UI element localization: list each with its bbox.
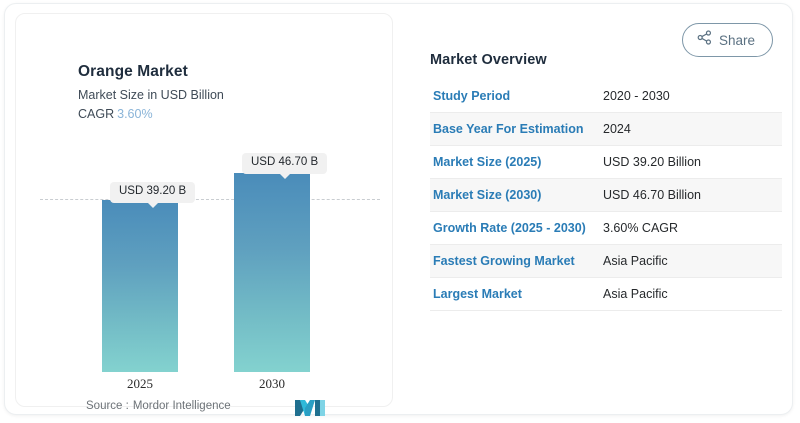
market-overview-panel: Market Overview Study Period 2020 - 2030… <box>430 52 782 311</box>
table-row: Market Size (2030) USD 46.70 Billion <box>430 179 782 212</box>
x-axis-label-2030: 2030 <box>234 376 310 392</box>
row-value: USD 39.20 Billion <box>603 146 782 179</box>
row-key: Largest Market <box>430 278 603 311</box>
row-key: Growth Rate (2025 - 2030) <box>430 212 603 245</box>
share-nodes-icon <box>697 30 712 50</box>
row-value: 2020 - 2030 <box>603 80 782 113</box>
share-button-label: Share <box>719 33 755 48</box>
chart-card: Orange Market Market Size in USD Billion… <box>15 13 393 407</box>
bar-2030[interactable] <box>234 173 310 372</box>
market-overview-table-body: Study Period 2020 - 2030 Base Year For E… <box>430 80 782 311</box>
row-key: Base Year For Estimation <box>430 113 603 146</box>
source-label: Source : <box>86 400 129 412</box>
chart-gridline <box>40 199 380 200</box>
row-value: Asia Pacific <box>603 278 782 311</box>
table-row: Base Year For Estimation 2024 <box>430 113 782 146</box>
row-value: 3.60% CAGR <box>603 212 782 245</box>
bar-chart-plot-area: USD 39.20 B USD 46.70 B 2025 2030 <box>16 14 394 408</box>
table-row: Fastest Growing Market Asia Pacific <box>430 245 782 278</box>
row-key: Study Period <box>430 80 603 113</box>
table-row: Market Size (2025) USD 39.20 Billion <box>430 146 782 179</box>
x-axis-label-2025: 2025 <box>102 376 178 392</box>
table-row: Study Period 2020 - 2030 <box>430 80 782 113</box>
source-line: Source :Mordor Intelligence <box>84 400 231 412</box>
row-key: Fastest Growing Market <box>430 245 603 278</box>
report-card: Orange Market Market Size in USD Billion… <box>4 3 793 415</box>
table-row: Largest Market Asia Pacific <box>430 278 782 311</box>
row-key: Market Size (2025) <box>430 146 603 179</box>
row-key: Market Size (2030) <box>430 179 603 212</box>
source-name: Mordor Intelligence <box>133 400 231 412</box>
mordor-intelligence-logo <box>295 399 331 417</box>
row-value: 2024 <box>603 113 782 146</box>
bar-value-label-2030: USD 46.70 B <box>242 153 327 174</box>
market-overview-title: Market Overview <box>430 52 782 68</box>
row-value: USD 46.70 Billion <box>603 179 782 212</box>
bar-2025[interactable] <box>102 200 178 372</box>
market-overview-table: Study Period 2020 - 2030 Base Year For E… <box>430 80 782 311</box>
row-value: Asia Pacific <box>603 245 782 278</box>
table-row: Growth Rate (2025 - 2030) 3.60% CAGR <box>430 212 782 245</box>
bar-value-label-2025: USD 39.20 B <box>110 182 195 203</box>
